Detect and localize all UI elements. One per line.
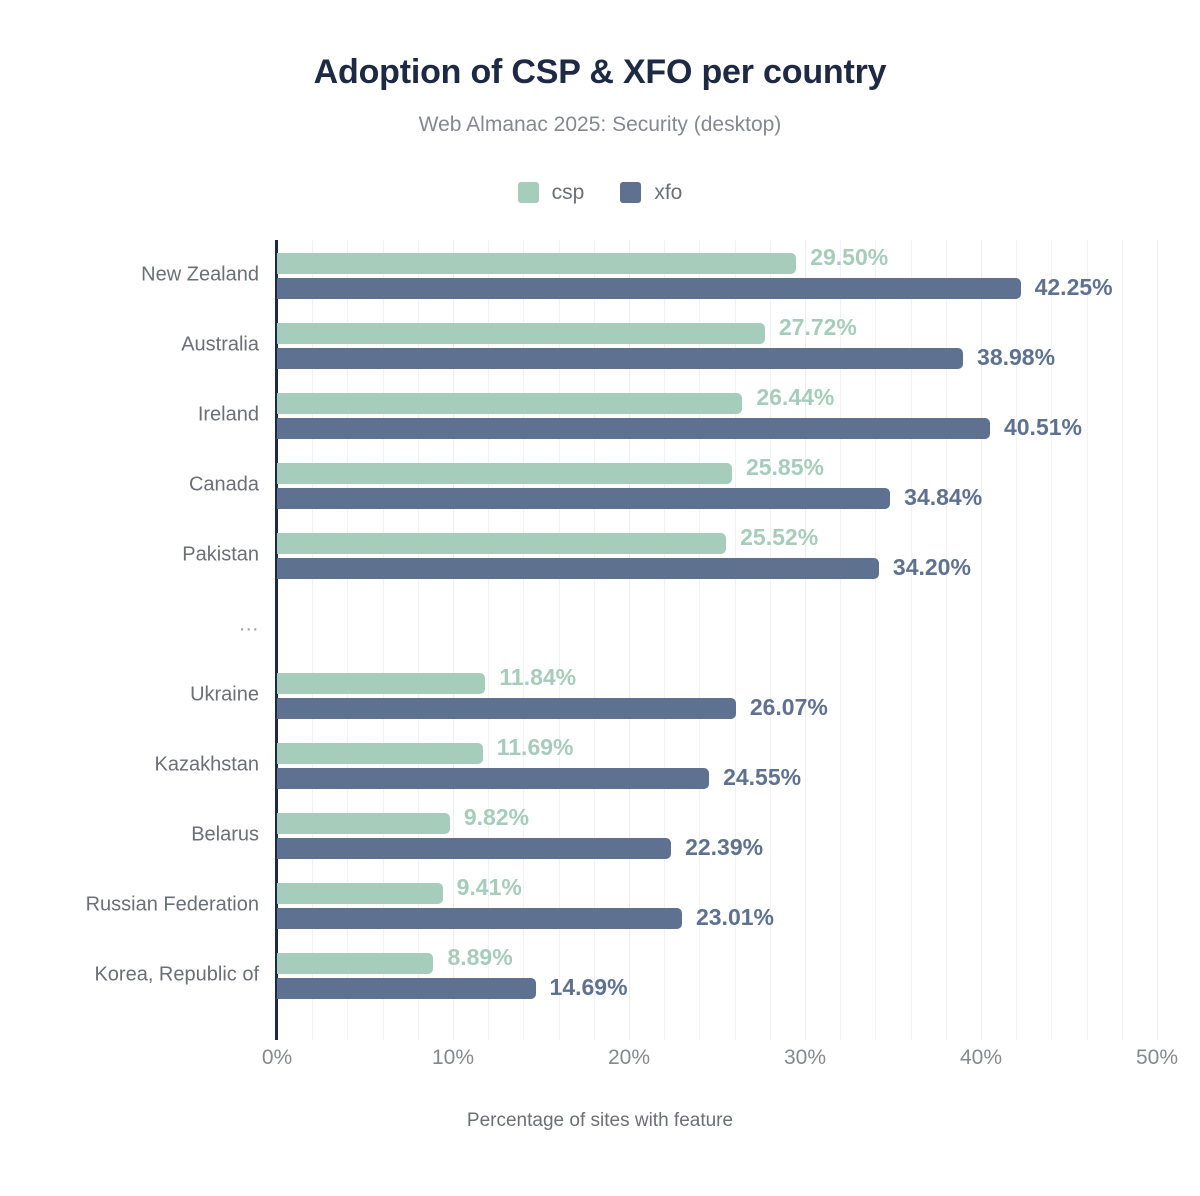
bar-row: Korea, Republic of8.89%14.69%: [277, 940, 1200, 1010]
category-label: Australia: [181, 334, 259, 357]
bar-xfo[interactable]: [277, 348, 963, 369]
bar-row: Kazakhstan11.69%24.55%: [277, 730, 1200, 800]
legend-item-csp[interactable]: csp: [518, 182, 585, 203]
chart-subtitle: Web Almanac 2025: Security (desktop): [0, 113, 1200, 137]
category-label: Kazakhstan: [154, 754, 259, 777]
bar-xfo[interactable]: [277, 558, 879, 579]
x-tick-label: 40%: [960, 1046, 1002, 1070]
bar-row: Ireland26.44%40.51%: [277, 380, 1200, 450]
bar-row: New Zealand29.50%42.25%: [277, 240, 1200, 310]
bar-xfo[interactable]: [277, 838, 671, 859]
bar-csp[interactable]: [277, 393, 742, 414]
bar-row: Pakistan25.52%34.20%: [277, 520, 1200, 590]
legend-swatch-csp: [518, 182, 539, 203]
bar-xfo[interactable]: [277, 488, 890, 509]
legend-swatch-xfo: [620, 182, 641, 203]
legend-item-xfo[interactable]: xfo: [620, 182, 682, 203]
category-label: Ireland: [198, 404, 259, 427]
bar-value-xfo: 24.55%: [723, 766, 801, 789]
bar-csp[interactable]: [277, 463, 732, 484]
bar-xfo[interactable]: [277, 978, 536, 999]
bar-csp[interactable]: [277, 533, 726, 554]
bar-row: Ukraine11.84%26.07%: [277, 660, 1200, 730]
bar-value-xfo: 34.20%: [893, 556, 971, 579]
bar-value-xfo: 22.39%: [685, 836, 763, 859]
category-label: Russian Federation: [86, 894, 259, 917]
category-label: Ukraine: [190, 684, 259, 707]
bar-value-csp: 9.41%: [457, 876, 522, 899]
bar-value-csp: 8.89%: [447, 946, 512, 969]
x-tick-label: 50%: [1136, 1046, 1178, 1070]
bar-csp[interactable]: [277, 953, 433, 974]
x-axis-ticks: 0%10%20%30%40%50%: [277, 1046, 1157, 1076]
bar-csp[interactable]: [277, 813, 450, 834]
bar-value-csp: 25.52%: [740, 526, 818, 549]
bar-row: Australia27.72%38.98%: [277, 310, 1200, 380]
x-tick-label: 0%: [262, 1046, 292, 1070]
bar-value-xfo: 40.51%: [1004, 416, 1082, 439]
legend-label-xfo: xfo: [654, 182, 682, 203]
bar-value-xfo: 23.01%: [696, 906, 774, 929]
bar-value-csp: 9.82%: [464, 806, 529, 829]
chart-container: Adoption of CSP & XFO per country Web Al…: [0, 0, 1200, 1196]
bar-value-xfo: 34.84%: [904, 486, 982, 509]
category-label: Canada: [189, 474, 259, 497]
bar-xfo[interactable]: [277, 418, 990, 439]
bar-csp[interactable]: [277, 743, 483, 764]
bar-value-csp: 11.84%: [499, 666, 576, 689]
x-tick-label: 20%: [608, 1046, 650, 1070]
bar-row: Russian Federation9.41%23.01%: [277, 870, 1200, 940]
bar-row-ellipsis: ...: [277, 590, 1200, 660]
bar-value-xfo: 26.07%: [750, 696, 828, 719]
bar-xfo[interactable]: [277, 278, 1021, 299]
plot-area: New Zealand29.50%42.25%Australia27.72%38…: [277, 240, 1157, 1040]
category-label: Korea, Republic of: [94, 964, 259, 987]
bar-value-xfo: 14.69%: [550, 976, 628, 999]
bar-value-csp: 29.50%: [810, 246, 888, 269]
category-label: Pakistan: [182, 544, 259, 567]
category-label: Belarus: [191, 824, 259, 847]
bar-value-csp: 27.72%: [779, 316, 857, 339]
chart-legend: cspxfo: [0, 182, 1200, 203]
bar-row: Canada25.85%34.84%: [277, 450, 1200, 520]
x-axis-label: Percentage of sites with feature: [0, 1110, 1200, 1132]
x-tick-label: 30%: [784, 1046, 826, 1070]
bar-row: Belarus9.82%22.39%: [277, 800, 1200, 870]
chart-title: Adoption of CSP & XFO per country: [0, 53, 1200, 92]
bar-value-xfo: 42.25%: [1035, 276, 1113, 299]
category-label: ...: [239, 614, 259, 637]
bar-value-xfo: 38.98%: [977, 346, 1055, 369]
bar-csp[interactable]: [277, 253, 796, 274]
bar-csp[interactable]: [277, 883, 443, 904]
bar-value-csp: 25.85%: [746, 456, 824, 479]
bar-value-csp: 26.44%: [756, 386, 834, 409]
bar-xfo[interactable]: [277, 908, 682, 929]
bar-csp[interactable]: [277, 323, 765, 344]
bar-rows: New Zealand29.50%42.25%Australia27.72%38…: [277, 240, 1157, 1040]
bar-csp[interactable]: [277, 673, 485, 694]
category-label: New Zealand: [141, 264, 259, 287]
bar-xfo[interactable]: [277, 698, 736, 719]
x-tick-label: 10%: [432, 1046, 474, 1070]
bar-xfo[interactable]: [277, 768, 709, 789]
bar-value-csp: 11.69%: [497, 736, 574, 759]
legend-label-csp: csp: [552, 182, 585, 203]
